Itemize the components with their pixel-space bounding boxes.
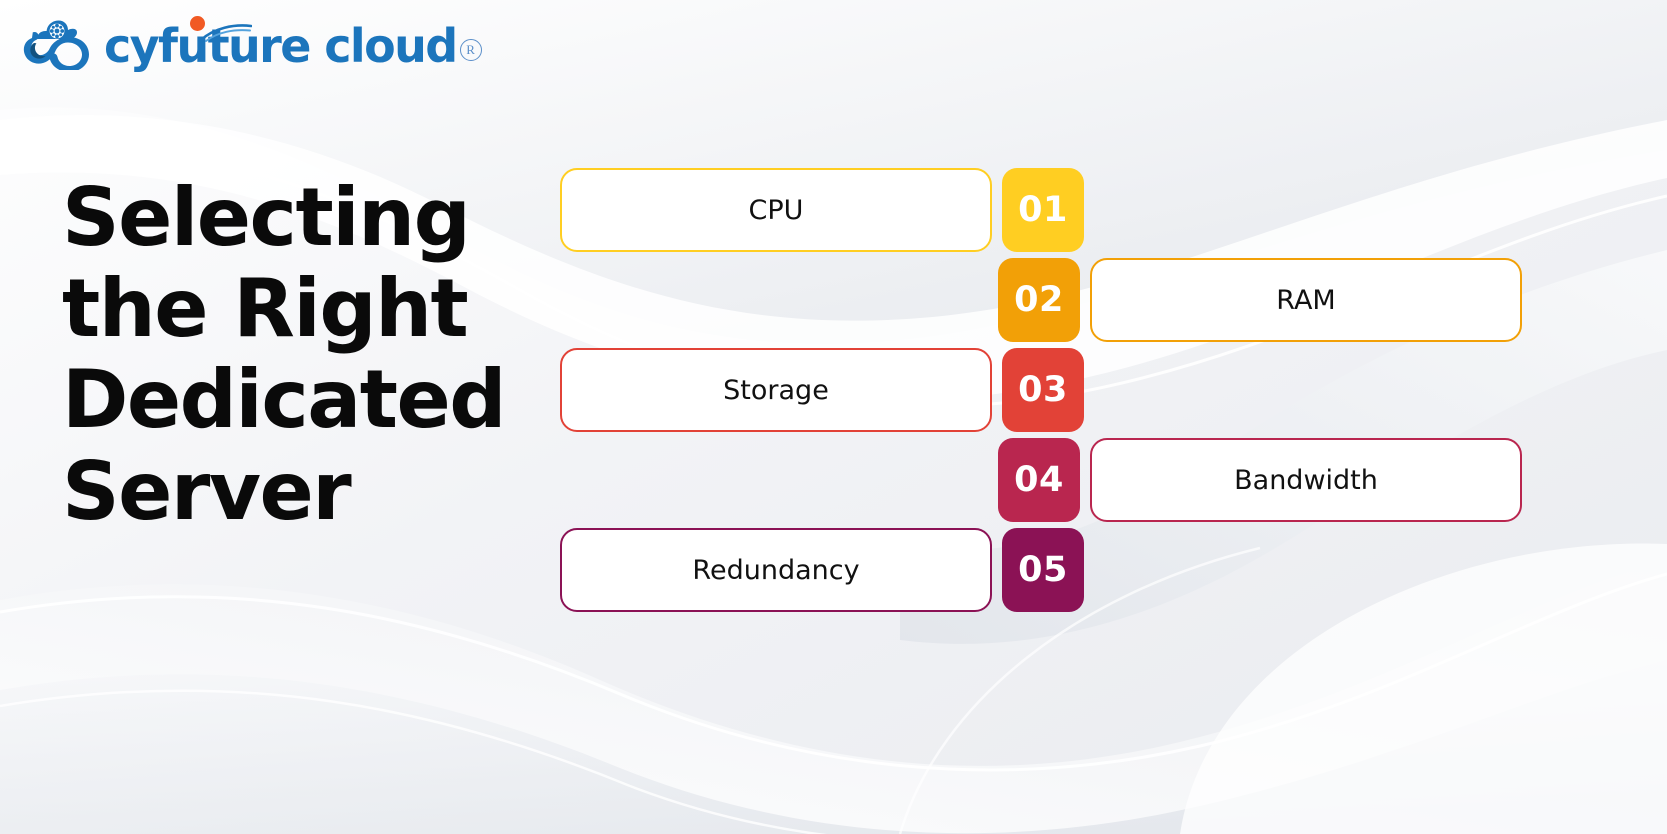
- factor-list: CPU 01 02 RAM Storage 03 04 Bandwidth Re…: [560, 168, 1520, 618]
- factor-card-ram[interactable]: RAM: [1090, 258, 1522, 342]
- factor-number: 05: [1018, 550, 1068, 590]
- factor-number-badge-02: 02: [998, 258, 1080, 342]
- factor-label: RAM: [1276, 285, 1335, 316]
- factor-label: Bandwidth: [1234, 465, 1378, 496]
- factor-number-badge-01: 01: [1002, 168, 1084, 252]
- registered-trademark-icon: R: [460, 39, 482, 61]
- logo-swoosh-icon: [200, 24, 252, 42]
- factor-card-redundancy[interactable]: Redundancy: [560, 528, 992, 612]
- factor-card-bandwidth[interactable]: Bandwidth: [1090, 438, 1522, 522]
- factor-number: 03: [1018, 370, 1068, 410]
- brand-logo[interactable]: cyfuture cloud R: [22, 18, 482, 70]
- brand-name: cyfuture cloud: [104, 23, 457, 69]
- factor-label: Storage: [723, 375, 829, 406]
- factor-number-badge-05: 05: [1002, 528, 1084, 612]
- factor-card-storage[interactable]: Storage: [560, 348, 992, 432]
- cyfuture-cloud-logo-icon: [22, 18, 94, 70]
- page-title: Selecting the Right Dedicated Server: [62, 172, 532, 537]
- list-item[interactable]: 04 Bandwidth: [998, 438, 1520, 522]
- factor-number: 04: [1014, 460, 1064, 500]
- list-item[interactable]: Storage 03: [560, 348, 1520, 432]
- list-item[interactable]: Redundancy 05: [560, 528, 1520, 612]
- factor-card-cpu[interactable]: CPU: [560, 168, 992, 252]
- list-item[interactable]: 02 RAM: [998, 258, 1520, 342]
- factor-number: 02: [1014, 280, 1064, 320]
- factor-number-badge-03: 03: [1002, 348, 1084, 432]
- factor-label: Redundancy: [692, 555, 859, 586]
- factor-number-badge-04: 04: [998, 438, 1080, 522]
- factor-label: CPU: [749, 195, 804, 226]
- factor-number: 01: [1018, 190, 1068, 230]
- list-item[interactable]: CPU 01: [560, 168, 1520, 252]
